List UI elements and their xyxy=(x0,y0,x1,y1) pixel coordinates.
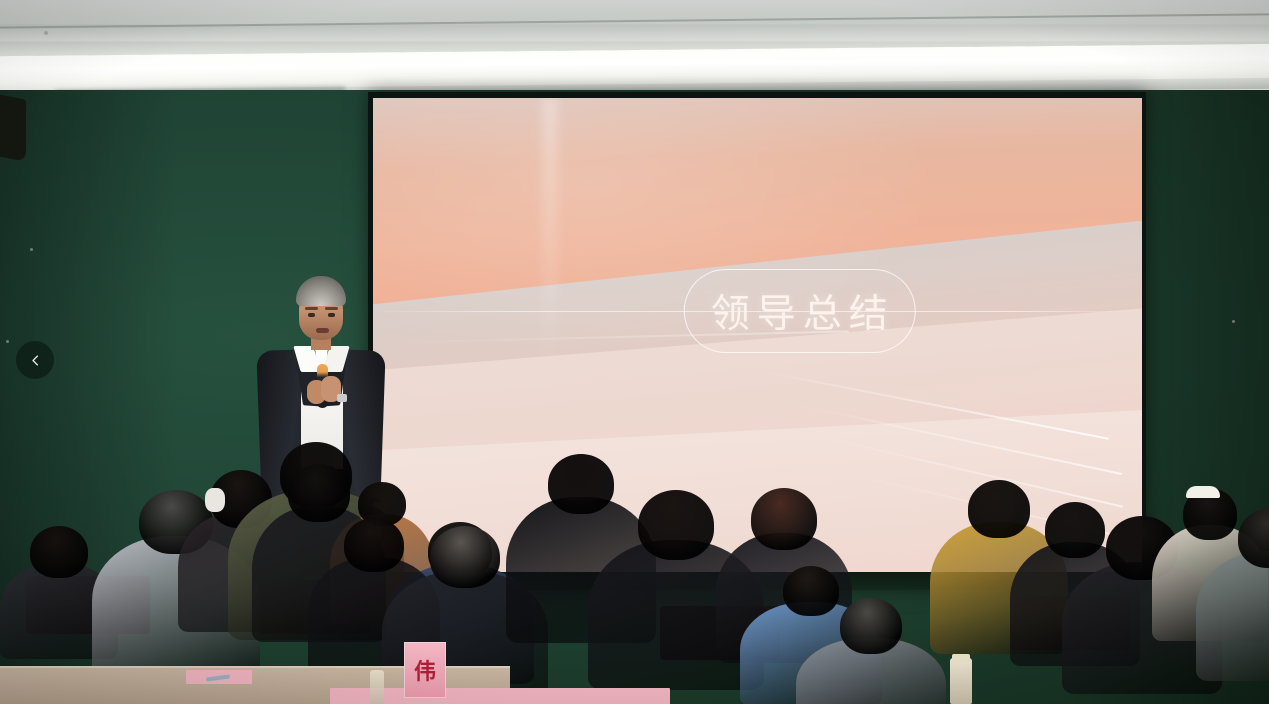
attendee-head xyxy=(288,464,350,522)
attendee-gray-hood-right xyxy=(1196,508,1269,698)
presenter-hair xyxy=(296,276,346,306)
audience: 伟 xyxy=(0,430,1269,704)
wall-mounted-speaker xyxy=(0,92,26,161)
slide-title: 领导总结 xyxy=(704,283,895,339)
previous-image-button[interactable] xyxy=(16,341,54,379)
wall-speck xyxy=(1232,320,1235,323)
water-bottle xyxy=(370,670,384,704)
presenter-eyebrow xyxy=(325,307,338,310)
presenter-eyebrow xyxy=(305,307,318,310)
attendee-head xyxy=(638,490,714,560)
wall-speck xyxy=(30,248,33,251)
presenter-wristwatch xyxy=(337,394,347,402)
attendee-head xyxy=(751,488,817,550)
hair-band xyxy=(1186,486,1220,498)
presenter-face-shading xyxy=(299,310,343,340)
ceiling-fixture-dot xyxy=(44,31,48,35)
presenter-eye xyxy=(308,313,315,317)
water-bottle xyxy=(950,658,972,704)
attendee-torso xyxy=(1196,551,1269,681)
face-mask xyxy=(205,488,225,512)
photo-viewer-stage: 领导总结 xyxy=(0,0,1269,704)
screen-light-streak xyxy=(542,98,558,370)
presenter-eye xyxy=(328,313,335,317)
presenter-mouth xyxy=(316,328,329,333)
attendee-gray-sweater xyxy=(796,598,946,704)
attendee-head xyxy=(430,526,500,588)
chevron-left-icon xyxy=(28,353,43,368)
bottle-cap xyxy=(952,654,970,662)
attendee-head xyxy=(840,598,902,654)
name-placard: 伟 xyxy=(404,642,446,698)
slide-title-pill: 领导总结 xyxy=(683,269,915,353)
wall-speck xyxy=(6,340,9,343)
attendee-head xyxy=(30,526,88,578)
